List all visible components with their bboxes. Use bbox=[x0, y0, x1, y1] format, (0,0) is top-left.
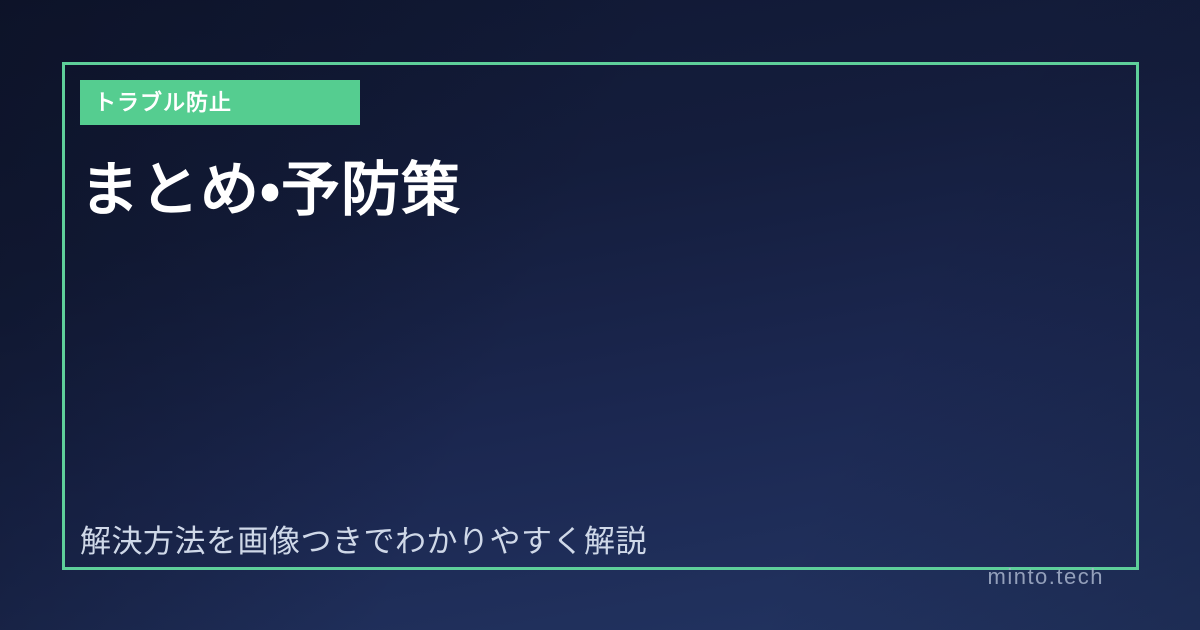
site-watermark: minto.tech bbox=[988, 564, 1105, 590]
page-title: まとめ・予防策 bbox=[80, 152, 1100, 229]
page-subtitle: 解決方法を画像つきでわかりやすく解説 bbox=[80, 522, 1100, 562]
ogp-card: トラブル防止 まとめ・予防策 解決方法を画像つきでわかりやすく解説 minto.… bbox=[0, 0, 1200, 630]
card-content: トラブル防止 まとめ・予防策 解決方法を画像つきでわかりやすく解説 bbox=[0, 0, 1200, 630]
category-badge: トラブル防止 bbox=[80, 80, 360, 125]
category-badge-label: トラブル防止 bbox=[80, 92, 232, 114]
